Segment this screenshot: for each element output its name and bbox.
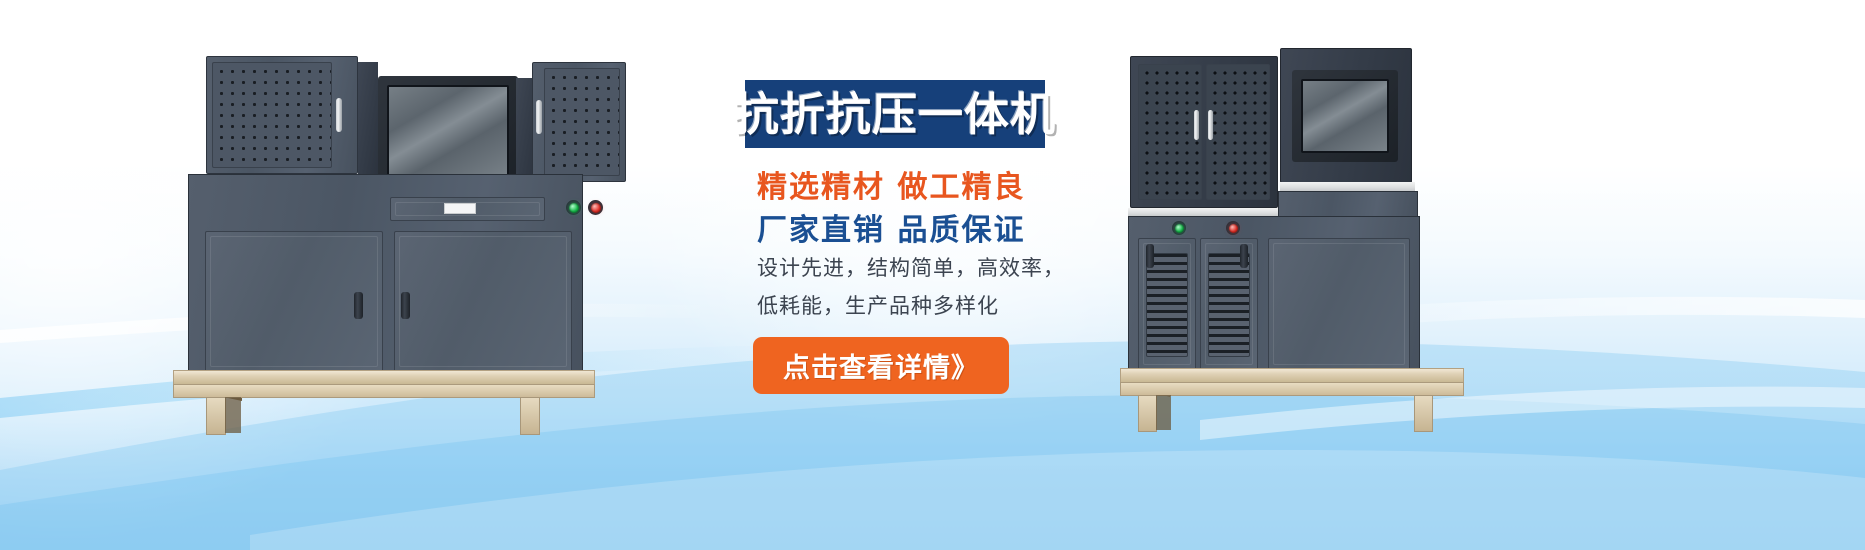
right-pallet-leg-2	[1414, 395, 1433, 432]
right-pallet-leg-shadow	[1156, 395, 1171, 430]
left-pallet-leg-2	[520, 397, 540, 435]
right-green-indicator-lamp[interactable]	[1175, 224, 1184, 233]
left-machine-right-perforated-panel	[544, 68, 620, 176]
headline-blue: 厂家直销 品质保证	[757, 205, 1025, 249]
right-upper-cabinet-handle-1[interactable]	[1194, 110, 1199, 140]
description-line-2: 低耗能，生产品种多样化	[757, 290, 999, 320]
left-cabinet-side	[358, 62, 378, 174]
headline-orange: 精选精材 做工精良	[757, 162, 1025, 206]
right-control-monitor-frame	[1292, 70, 1398, 162]
right-machine-vent-2	[1208, 253, 1250, 357]
left-machine-door-2[interactable]	[394, 231, 572, 372]
right-control-monitor-screen	[1301, 79, 1389, 153]
left-pallet-leg-1	[206, 397, 226, 435]
left-perforated-panel	[212, 62, 332, 168]
control-monitor-screen	[387, 85, 509, 183]
view-details-button[interactable]: 点击查看详情》	[753, 337, 1009, 394]
drawer-label-plate	[444, 203, 476, 214]
green-indicator-lamp[interactable]	[569, 203, 579, 213]
right-perforated-panel-2	[1206, 64, 1270, 200]
description-line-1: 设计先进，结构简单，高效率，	[757, 252, 1065, 282]
left-pallet-top	[173, 370, 595, 385]
right-upper-cabinet-handle-2[interactable]	[1208, 110, 1213, 140]
left-pallet-face	[173, 384, 595, 398]
left-machine-right-cabinet-handle	[536, 100, 542, 134]
left-machine-photo	[168, 48, 592, 428]
product-promo-banner: 抗折抗压一体机 精选精材 做工精良 厂家直销 品质保证 设计先进，结构简单，高效…	[0, 0, 1865, 550]
right-red-indicator-lamp[interactable]	[1229, 224, 1238, 233]
left-machine-door-1-handle[interactable]	[354, 292, 363, 319]
page-title: 抗折抗压一体机	[734, 92, 1056, 137]
right-perforated-panel-1	[1138, 64, 1202, 200]
right-machine-vent-1	[1146, 253, 1188, 357]
left-machine-door-2-handle[interactable]	[401, 292, 410, 319]
right-pallet-face	[1120, 382, 1464, 396]
title-plate: 抗折抗压一体机	[745, 80, 1045, 148]
right-machine-door-3[interactable]	[1268, 238, 1410, 370]
left-pallet-leg-shadow	[225, 397, 241, 433]
left-cabinet-handle	[336, 98, 342, 132]
right-pallet-top	[1120, 368, 1464, 383]
right-machine-door-2-handle[interactable]	[1240, 244, 1248, 268]
view-details-label: 点击查看详情》	[783, 346, 979, 385]
right-pallet-leg-1	[1138, 395, 1157, 432]
promo-copy-column: 抗折抗压一体机 精选精材 做工精良 厂家直销 品质保证 设计先进，结构简单，高效…	[745, 0, 1125, 550]
right-machine-door-1-handle[interactable]	[1146, 244, 1154, 268]
red-indicator-lamp[interactable]	[591, 203, 601, 213]
right-machine-photo	[1120, 48, 1480, 428]
